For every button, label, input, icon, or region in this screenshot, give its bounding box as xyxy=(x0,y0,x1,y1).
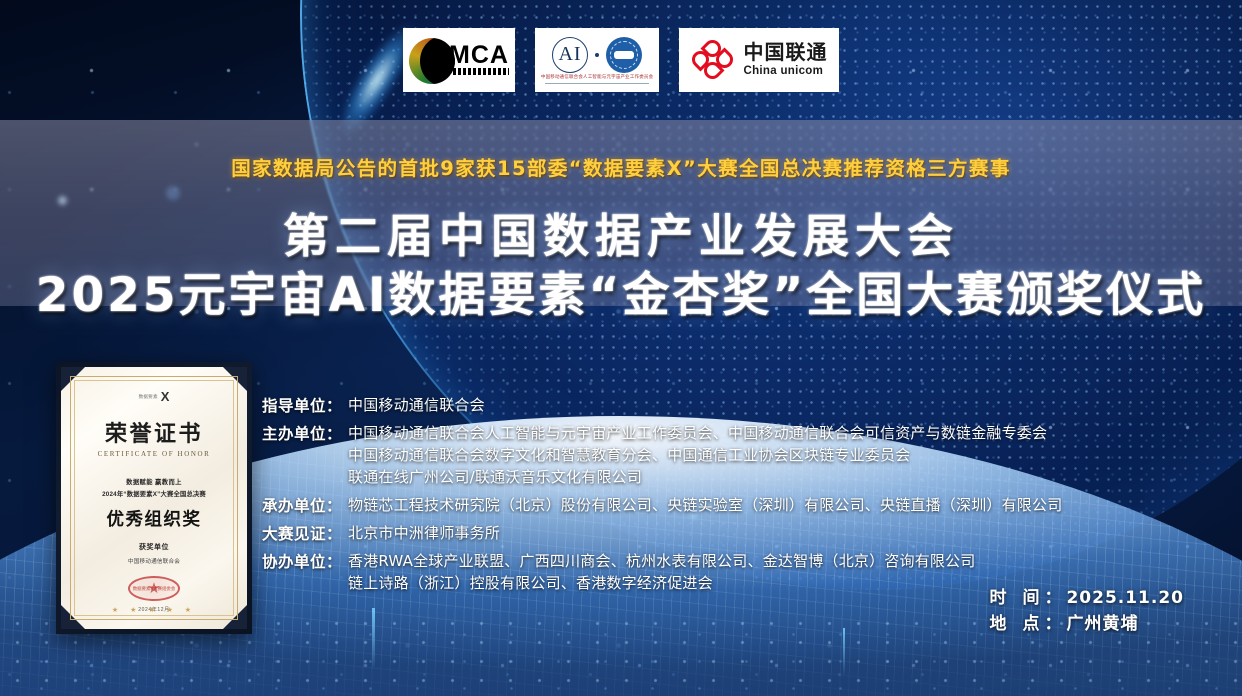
certificate-heading: 荣誉证书 xyxy=(105,416,203,448)
sponsor-logo-strip: MCA AI 中国移动通信联合会人工智能与元宇宙产业工作委员会 中国联通 xyxy=(0,28,1242,96)
info-label: 大赛见证： xyxy=(262,522,348,544)
info-line: 中国移动通信联合会数字文化和智慧教育分会、中国通信工业协会区块链专业委员会 xyxy=(348,444,1092,466)
china-unicom-logo: 中国联通 China unicom xyxy=(679,28,839,92)
info-value: 中国移动通信联合会 xyxy=(348,394,1092,416)
event-place-label: 地 点： xyxy=(990,614,1067,634)
info-row: 主办单位： 中国移动通信联合会人工智能与元宇宙产业工作委员会、中国移动通信联合会… xyxy=(262,422,1092,488)
certificate-slogan: 数据赋能 赢教而上 xyxy=(126,477,182,486)
info-line: 中国移动通信联合会人工智能与元宇宙产业工作委员会、中国移动通信联合会可信资产与数… xyxy=(348,422,1092,444)
info-row: 协办单位： 香港RWA全球产业联盟、广西四川商会、杭州水表有限公司、金达智博（北… xyxy=(262,550,1092,594)
unicom-knot-icon xyxy=(691,40,735,80)
event-time: 时 间：2025.11.20 xyxy=(990,585,1184,611)
info-line: 联通在线广州公司/联通沃音乐文化有限公司 xyxy=(348,466,1092,488)
info-row: 大赛见证： 北京市中洲律师事务所 xyxy=(262,522,1092,544)
event-poster: MCA AI 中国移动通信联合会人工智能与元宇宙产业工作委员会 中国联通 xyxy=(0,0,1242,696)
certificate-award-name: 优秀组织奖 xyxy=(107,506,202,531)
event-title: 2025元宇宙AI数据要素“金杏奖”全国大赛颁奖仪式 xyxy=(0,256,1242,325)
info-line: 中国移动通信联合会 xyxy=(348,394,1092,416)
banner-kicker: 国家数据局公告的首批9家获15部委“数据要素X”大赛全国总决赛推荐资格三方赛事 xyxy=(0,152,1242,181)
info-line: 物链芯工程技术研究院（北京）股份有限公司、央链实验室（深圳）有限公司、央链直播（… xyxy=(348,494,1092,516)
certificate-brand-mark: X xyxy=(161,390,170,403)
mca-logo-underbar xyxy=(453,68,509,75)
event-place: 地 点：广州黄埔 xyxy=(990,611,1184,637)
dot-separator-icon xyxy=(595,53,599,57)
mca-logo: MCA xyxy=(403,28,515,92)
ai-logo-caption: 中国移动通信联合会人工智能与元宇宙产业工作委员会 xyxy=(541,73,653,79)
info-value: 中国移动通信联合会人工智能与元宇宙产业工作委员会、中国移动通信联合会可信资产与数… xyxy=(348,422,1092,488)
certificate-brand-text: 数据要素 xyxy=(139,394,158,400)
mca-logo-text: MCA xyxy=(449,41,509,70)
certificate-recipient-label: 获奖单位 xyxy=(139,542,169,552)
info-label: 承办单位： xyxy=(262,494,348,516)
ai-committee-logo: AI 中国移动通信联合会人工智能与元宇宙产业工作委员会 xyxy=(535,28,659,92)
info-row: 承办单位： 物链芯工程技术研究院（北京）股份有限公司、央链实验室（深圳）有限公司… xyxy=(262,494,1092,516)
committee-seal-icon xyxy=(606,37,642,73)
info-line: 北京市中洲律师事务所 xyxy=(348,522,1092,544)
certificate-recipient: 中国移动通信联合会 xyxy=(128,557,180,565)
info-value: 北京市中洲律师事务所 xyxy=(348,522,1092,544)
info-value: 香港RWA全球产业联盟、广西四川商会、杭州水表有限公司、金达智博（北京）咨询有限… xyxy=(348,550,1092,594)
info-label: 指导单位： xyxy=(262,394,348,416)
event-meta: 时 间：2025.11.20 地 点：广州黄埔 xyxy=(990,585,1184,637)
light-streak xyxy=(372,608,375,670)
certificate-seal-text: 数据要素X大赛组委会 xyxy=(133,586,175,592)
divider xyxy=(545,83,649,84)
info-label: 协办单位： xyxy=(262,550,348,572)
certificate-seal-icon: 数据要素X大赛组委会 xyxy=(128,576,180,601)
certificate-heading-en: CERTIFICATE OF HONOR xyxy=(98,450,211,458)
unicom-name-cn: 中国联通 xyxy=(744,43,828,63)
light-streak xyxy=(843,628,845,676)
organiser-info: 指导单位： 中国移动通信联合会 主办单位： 中国移动通信联合会人工智能与元宇宙产… xyxy=(262,394,1092,600)
certificate-stars: ★ ★ ★ ★ ★ xyxy=(61,606,247,614)
info-label: 主办单位： xyxy=(262,422,348,444)
certificate-brand: 数据要素 X xyxy=(139,390,170,403)
unicom-name-en: China unicom xyxy=(744,66,828,78)
info-line: 香港RWA全球产业联盟、广西四川商会、杭州水表有限公司、金达智博（北京）咨询有限… xyxy=(348,550,1092,572)
certificate-competition: 2024年“数据要素X”大赛全国总决赛 xyxy=(102,489,206,498)
info-value: 物链芯工程技术研究院（北京）股份有限公司、央链实验室（深圳）有限公司、央链直播（… xyxy=(348,494,1092,516)
event-time-value: 2025.11.20 xyxy=(1066,588,1184,608)
info-line: 链上诗路（浙江）控股有限公司、香港数字经济促进会 xyxy=(348,572,1092,594)
event-time-label: 时 间： xyxy=(990,588,1067,608)
certificate-image: 数据要素 X 荣誉证书 CERTIFICATE OF HONOR 数据赋能 赢教… xyxy=(56,362,252,634)
event-place-value: 广州黄埔 xyxy=(1066,614,1138,634)
info-row: 指导单位： 中国移动通信联合会 xyxy=(262,394,1092,416)
ai-logo-text: AI xyxy=(552,37,588,73)
